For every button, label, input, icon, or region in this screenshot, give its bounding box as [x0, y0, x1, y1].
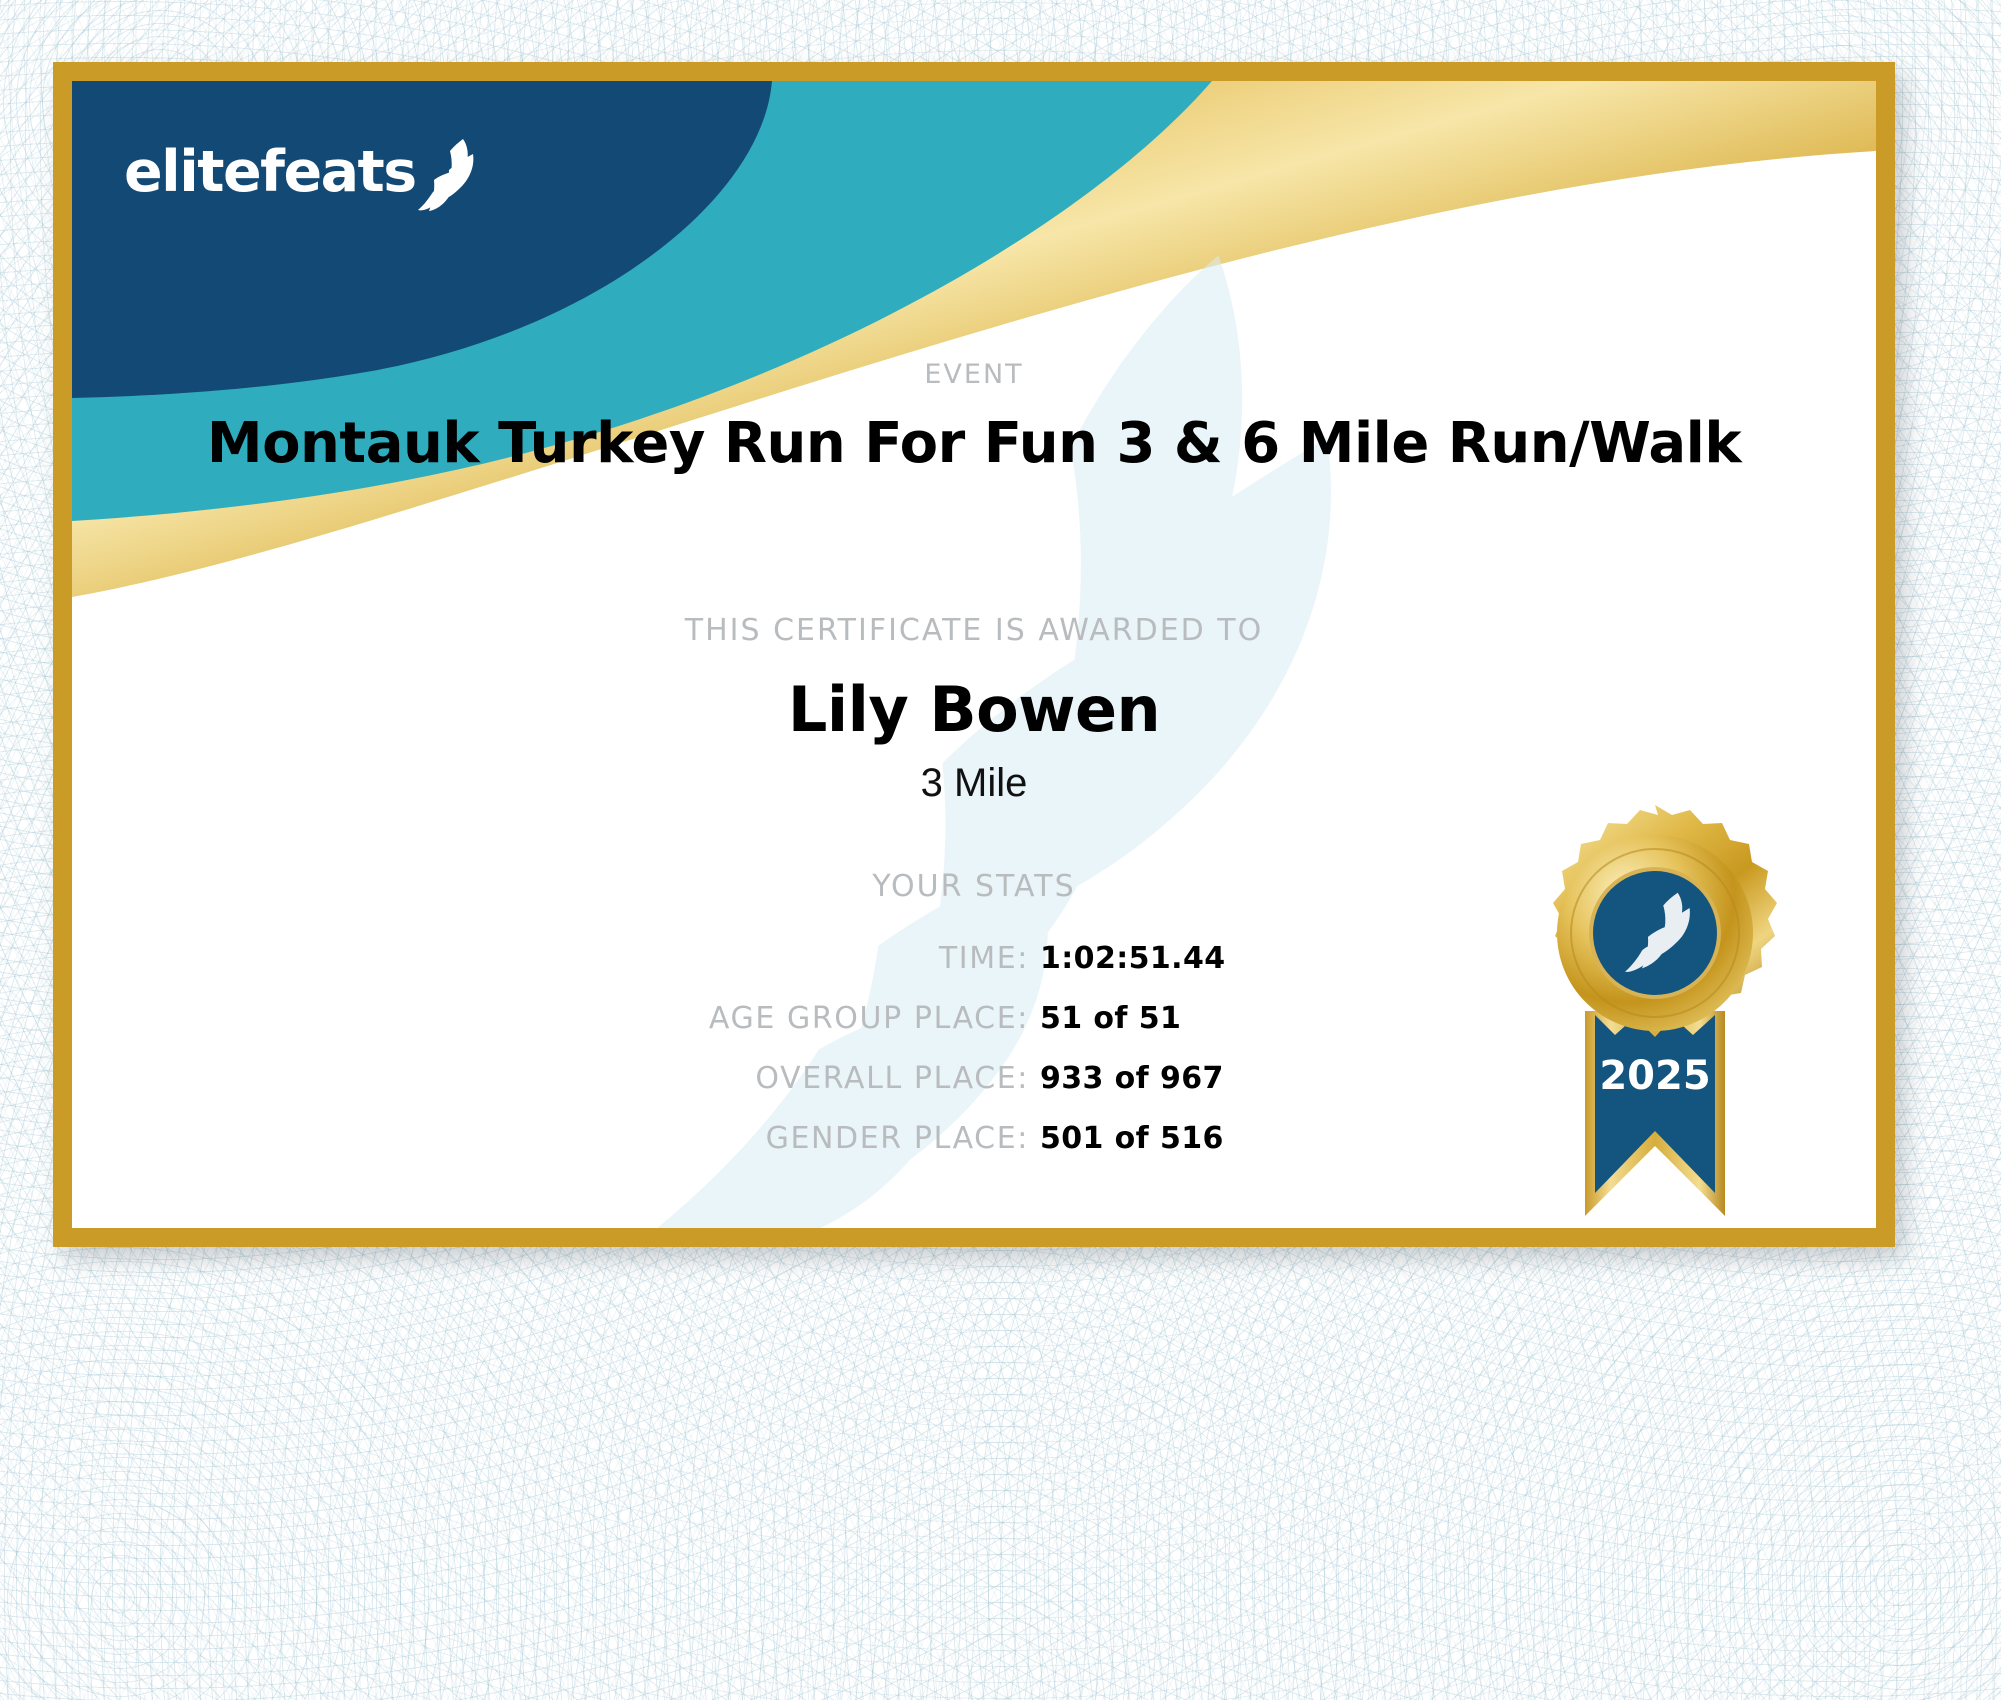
- event-title: Montauk Turkey Run For Fun 3 & 6 Mile Ru…: [72, 411, 1876, 476]
- event-label: EVENT: [72, 359, 1876, 390]
- finisher-certificate-caption: FINISHER CERTIFICATE: [1506, 1226, 1806, 1228]
- stat-value-time: 1:02:51.44: [1040, 941, 1226, 976]
- stat-label-age-group-place: AGE GROUP PLACE:: [72, 1001, 1029, 1036]
- winged-foot-icon: [418, 137, 476, 211]
- finisher-medal-badge: 2025: [1523, 801, 1788, 1228]
- certificate-card: elitefeats EVENT Montauk Turkey Run For …: [53, 62, 1895, 1247]
- medal-scallop: [1553, 805, 1777, 1031]
- finisher-caption-line1: FINISHER: [1506, 1226, 1806, 1228]
- stat-label-overall-place: OVERALL PLACE:: [72, 1061, 1029, 1096]
- race-distance: 3 Mile: [72, 761, 1876, 806]
- stat-value-age-group-place: 51 of 51: [1040, 1001, 1181, 1036]
- stat-label-gender-place: GENDER PLACE:: [72, 1121, 1029, 1156]
- ribbon-inner: [1595, 1015, 1715, 1193]
- elitefeats-logo: elitefeats: [124, 133, 476, 211]
- stat-value-gender-place: 501 of 516: [1040, 1121, 1224, 1156]
- certificate-card-inner: elitefeats EVENT Montauk Turkey Run For …: [72, 81, 1876, 1228]
- stat-label-time: TIME:: [72, 941, 1029, 976]
- medal-graphic: 2025: [1523, 801, 1788, 1228]
- badge-year: 2025: [1599, 1053, 1710, 1099]
- certificate-page: elitefeats EVENT Montauk Turkey Run For …: [0, 0, 2001, 1700]
- stat-value-overall-place: 933 of 967: [1040, 1061, 1224, 1096]
- recipient-name: Lily Bowen: [72, 673, 1876, 746]
- logo-wordmark: elitefeats: [124, 144, 416, 201]
- awarded-to-label: THIS CERTIFICATE IS AWARDED TO: [72, 613, 1876, 648]
- navy-swoosh-shape: [72, 81, 772, 398]
